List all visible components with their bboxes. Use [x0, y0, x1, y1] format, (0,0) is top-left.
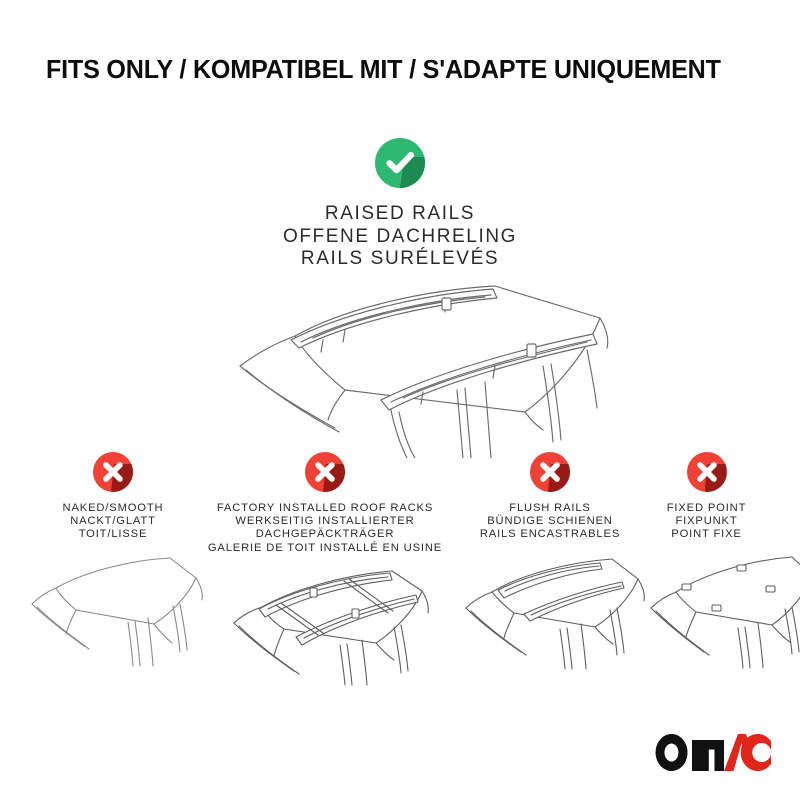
compatible-label: RAISED RAILS OFFENE DACHRELING RAILS SUR… [0, 203, 800, 271]
car-roof-factory-racks-illustration [210, 561, 440, 686]
omac-logo-mark [654, 732, 772, 772]
option-label: FACTORY INSTALLED ROOF RACKS WERKSEITIG … [205, 502, 445, 555]
car-roof-flush-rails-illustration [452, 548, 648, 670]
option-fixed-point: FIXED POINT FIXPUNKT POINT FIXE [640, 452, 773, 670]
x-circle-icon [530, 452, 570, 492]
x-circle-icon [93, 452, 133, 492]
fitment-compatibility-graphic: FITS ONLY / KOMPATIBEL MIT / S'ADAPTE UN… [0, 0, 800, 800]
option-factory-roof-racks: FACTORY INSTALLED ROOF RACKS WERKSEITIG … [205, 452, 445, 686]
option-naked-smooth: NAKED/SMOOTH NACKT/GLATT TOIT/LISSE [18, 452, 208, 668]
omac-logo [654, 732, 772, 772]
car-roof-fixed-point-illustration [640, 548, 800, 670]
option-label: FLUSH RAILS BÜNDIGE SCHIENEN RAILS ENCAS… [452, 502, 648, 542]
compatible-section: RAISED RAILS OFFENE DACHRELING RAILS SUR… [0, 138, 800, 271]
incompatible-section: NAKED/SMOOTH NACKT/GLATT TOIT/LISSE [0, 452, 800, 702]
car-roof-naked-illustration [18, 548, 208, 668]
car-roof-raised-rails-illustration [195, 278, 615, 458]
option-label: NAKED/SMOOTH NACKT/GLATT TOIT/LISSE [18, 502, 208, 542]
page-title: FITS ONLY / KOMPATIBEL MIT / S'ADAPTE UN… [46, 56, 721, 85]
option-flush-rails: FLUSH RAILS BÜNDIGE SCHIENEN RAILS ENCAS… [452, 452, 648, 670]
x-circle-icon [687, 452, 727, 492]
check-circle-icon [375, 138, 425, 188]
x-circle-icon [305, 452, 345, 492]
option-label: FIXED POINT FIXPUNKT POINT FIXE [640, 502, 773, 542]
